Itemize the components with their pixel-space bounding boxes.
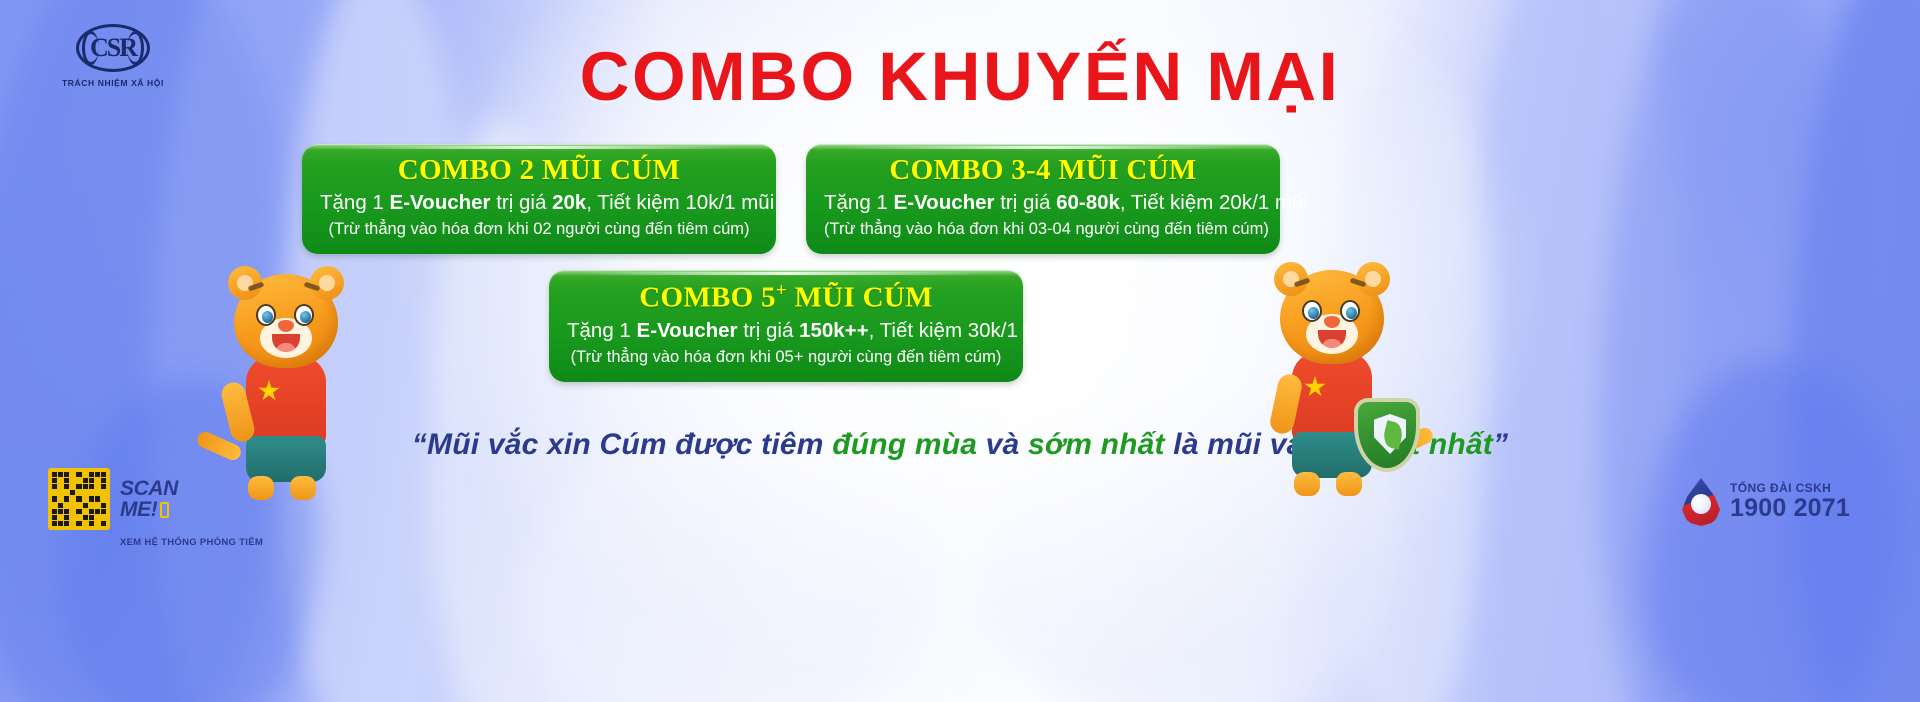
quote-mid: và — [977, 428, 1028, 461]
offer-prefix: Tặng 1 — [824, 191, 894, 214]
tiger-eye — [294, 304, 314, 326]
page-title: COMBO KHUYẾN MẠI — [0, 42, 1920, 111]
tiger-head — [1280, 270, 1384, 364]
tiger-leg — [290, 476, 316, 500]
offer-prefix: Tặng 1 — [320, 191, 390, 214]
offer-mid: trị giá — [995, 191, 1057, 214]
combo-card-3-4-doses[interactable]: COMBO 3-4 MŨI CÚM Tặng 1 E-Voucher trị g… — [806, 144, 1280, 254]
tiger-eye — [1340, 300, 1360, 322]
combo-heading-post: MŨI CÚM — [787, 282, 933, 314]
offer-suffix: , Tiết kiệm 10k/1 mũi — [586, 191, 774, 214]
tiger-mascot-right — [1258, 248, 1418, 496]
combo-card-heading: COMBO 3-4 MŨI CÚM — [824, 154, 1262, 187]
offer-amount: 60-80k — [1056, 191, 1120, 214]
tiger-mouth — [272, 334, 300, 352]
tiger-mascot-left — [212, 252, 362, 502]
combo-card-2-doses[interactable]: COMBO 2 MŨI CÚM Tặng 1 E-Voucher trị giá… — [302, 144, 776, 254]
offer-prefix: Tặng 1 — [567, 319, 637, 342]
offer-voucher: E-Voucher — [637, 319, 738, 342]
offer-voucher: E-Voucher — [894, 191, 995, 214]
offer-suffix: , Tiết kiệm 20k/1 mũi — [1120, 191, 1308, 214]
hotline-block[interactable]: TỔNG ĐÀI CSKH 1900 2071 — [1682, 478, 1850, 526]
offer-mid: trị giá — [491, 191, 553, 214]
tiger-leg — [248, 476, 274, 500]
tiger-head — [234, 274, 338, 368]
combo-card-5-plus-doses[interactable]: COMBO 5+ MŨI CÚM Tặng 1 E-Voucher trị gi… — [549, 270, 1023, 382]
combo-card-offer: Tặng 1 E-Voucher trị giá 20k, Tiết kiệm … — [320, 189, 758, 217]
tiger-leg — [1336, 472, 1362, 496]
scan-label: SCAN — [120, 478, 178, 499]
tiger-body — [246, 356, 326, 448]
combo-card-heading: COMBO 2 MŨI CÚM — [320, 154, 758, 187]
quote-highlight-1: đúng mùa — [832, 428, 977, 461]
offer-mid: trị giá — [738, 319, 800, 342]
combo-card-offer: Tặng 1 E-Voucher trị giá 150k++, Tiết ki… — [567, 317, 1005, 345]
tiger-ear — [1356, 262, 1390, 296]
tiger-ear — [310, 266, 344, 300]
promo-banner: CSR TRÁCH NHIỆM XÃ HỘI COMBO KHUYẾN MẠI … — [0, 0, 1920, 702]
tiger-mouth — [1318, 330, 1346, 348]
tiger-leg — [1294, 472, 1320, 496]
combo-heading-superscript: + — [776, 280, 787, 301]
offer-voucher: E-Voucher — [390, 191, 491, 214]
scan-label-group: SCAN ME! — [120, 478, 178, 520]
tiger-eye — [256, 304, 276, 326]
qr-code-icon[interactable] — [48, 468, 110, 530]
combo-card-heading: COMBO 5+ MŨI CÚM — [567, 280, 1005, 315]
phone-icon — [160, 502, 169, 518]
offer-amount: 150k++ — [799, 319, 869, 342]
offer-suffix: , Tiết kiệm 30k/1 mũi — [869, 319, 1057, 342]
combo-heading-pre: COMBO 5 — [639, 282, 776, 314]
hotline-label: TỔNG ĐÀI CSKH — [1730, 482, 1850, 495]
qr-caption: XEM HỆ THỐNG PHÒNG TIÊM — [120, 537, 278, 548]
quote-close: ” — [1493, 428, 1508, 461]
quote-open: “Mũi vắc xin Cúm được tiêm — [412, 428, 832, 461]
combo-card-note: (Trừ thẳng vào hóa đơn khi 03-04 người c… — [824, 218, 1262, 240]
combo-card-note: (Trừ thẳng vào hóa đơn khi 05+ người cùn… — [567, 346, 1005, 368]
offer-amount: 20k — [552, 191, 586, 214]
scan-me-label: ME! — [120, 499, 157, 520]
combo-card-offer: Tặng 1 E-Voucher trị giá 60-80k, Tiết ki… — [824, 189, 1262, 217]
hotline-number[interactable]: 1900 2071 — [1730, 495, 1850, 523]
blood-drop-icon — [1682, 478, 1720, 526]
quote-highlight-2: sớm nhất — [1028, 428, 1165, 461]
tiger-eye — [1302, 300, 1322, 322]
combo-card-note: (Trừ thẳng vào hóa đơn khi 02 người cùng… — [320, 218, 758, 240]
